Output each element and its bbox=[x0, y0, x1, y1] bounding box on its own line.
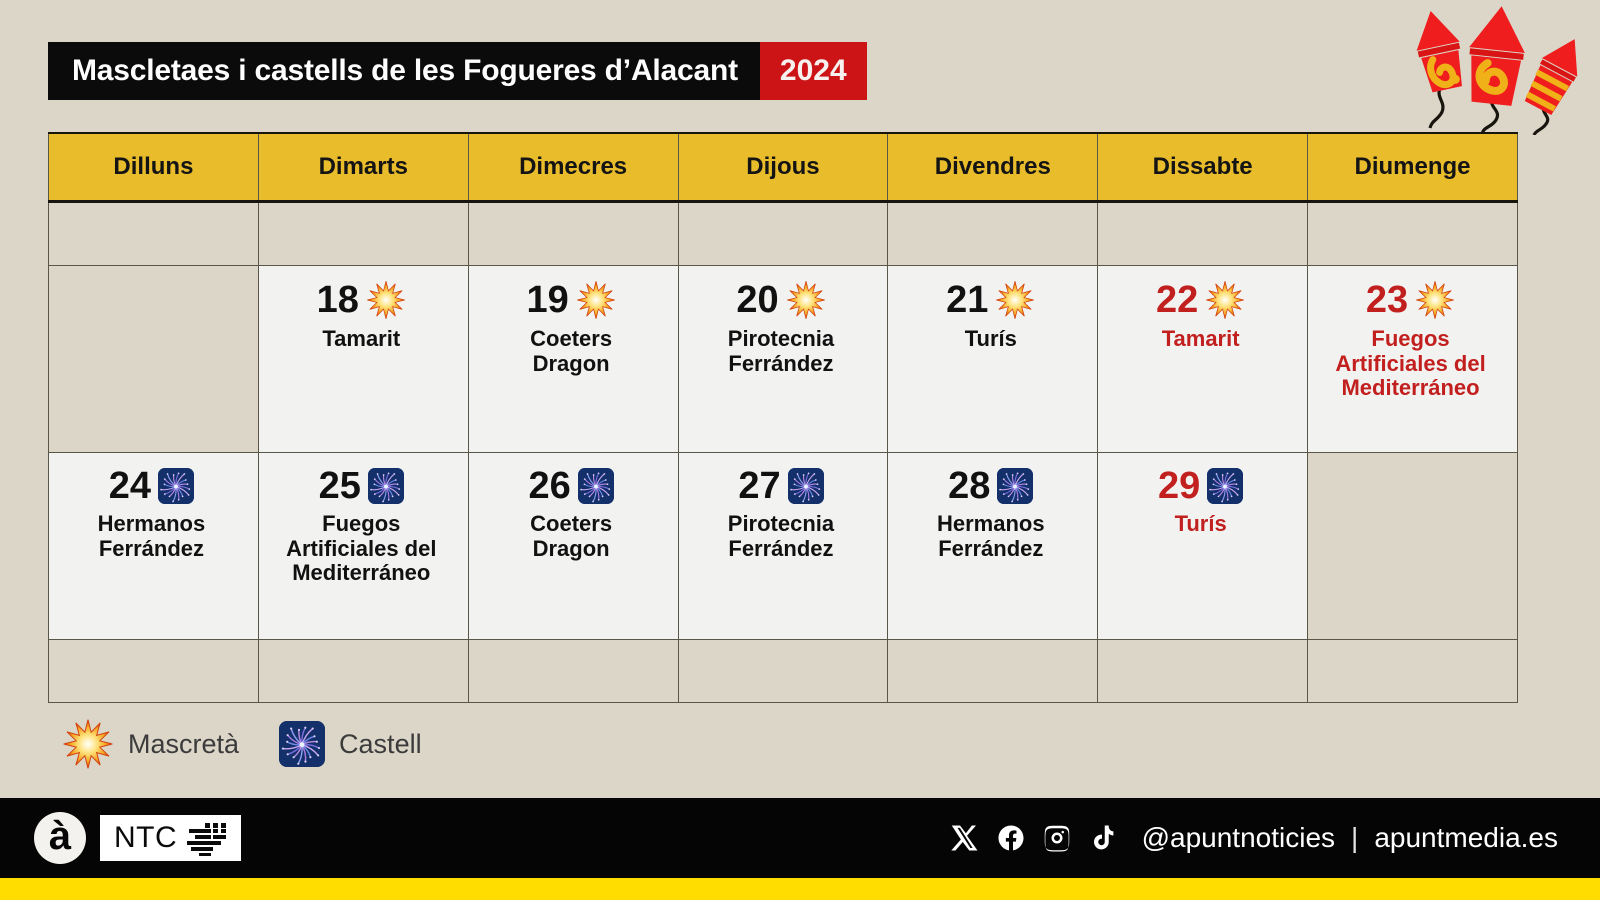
weekday-header-dilluns: Dilluns bbox=[49, 133, 259, 202]
calendar-cell-day-22[interactable]: 22Tamarit bbox=[1098, 266, 1308, 453]
castell-icon bbox=[578, 468, 614, 504]
calendar-cell-empty bbox=[678, 202, 888, 266]
calendar-cell-empty bbox=[1308, 453, 1518, 640]
castell-icon bbox=[788, 468, 824, 504]
calendar-cell-empty bbox=[468, 640, 678, 703]
calendar-cell-day-20[interactable]: 20Pirotecnia Ferrández bbox=[678, 266, 888, 453]
calendar-cell-empty bbox=[49, 202, 259, 266]
calendar-cell-empty bbox=[1308, 640, 1518, 703]
event-name: Tamarit bbox=[269, 327, 454, 352]
title-bar: Mascletaes i castells de les Fogueres d’… bbox=[48, 42, 867, 100]
weekday-header-dissabte: Dissabte bbox=[1098, 133, 1308, 202]
calendar-cell-empty bbox=[1098, 640, 1308, 703]
calendar-cell-day-21[interactable]: 21Turís bbox=[888, 266, 1098, 453]
mascleta-icon bbox=[576, 280, 616, 320]
x-icon[interactable] bbox=[950, 823, 980, 853]
calendar-cell-day-19[interactable]: 19Coeters Dragon bbox=[468, 266, 678, 453]
footer-branding: à NTC bbox=[0, 812, 241, 864]
event-name: Pirotecnia Ferrández bbox=[689, 327, 874, 376]
event-name: Turís bbox=[898, 327, 1083, 352]
calendar-cell-content: 24Hermanos Ferrández bbox=[49, 453, 258, 571]
day-number-row: 27 bbox=[689, 467, 874, 505]
year-label: 2024 bbox=[780, 54, 847, 88]
day-number-row: 20 bbox=[689, 280, 874, 320]
castell-icon bbox=[279, 721, 325, 767]
ntc-label: NTC bbox=[114, 821, 177, 855]
calendar-cell-content: 29Turís bbox=[1098, 453, 1307, 547]
calendar-cell-content: 28Hermanos Ferrández bbox=[888, 453, 1097, 571]
rockets-icon bbox=[1392, 0, 1592, 135]
legend-label: Mascretà bbox=[128, 729, 239, 760]
mascleta-icon bbox=[62, 718, 114, 770]
calendar-cell-content: 25Fuegos Artificiales del Mediterráneo bbox=[259, 453, 468, 596]
event-name: Coeters Dragon bbox=[479, 327, 664, 376]
calendar-cell-day-28[interactable]: 28Hermanos Ferrández bbox=[888, 453, 1098, 640]
calendar-week-row: 18Tamarit19Coeters Dragon20Pirotecnia Fe… bbox=[49, 266, 1518, 453]
calendar-cell-day-24[interactable]: 24Hermanos Ferrández bbox=[49, 453, 259, 640]
calendar-cell-day-23[interactable]: 23Fuegos Artificiales del Mediterráneo bbox=[1308, 266, 1518, 453]
tiktok-icon[interactable] bbox=[1088, 823, 1118, 853]
day-number: 23 bbox=[1366, 281, 1408, 319]
weekday-header-diumenge: Diumenge bbox=[1308, 133, 1518, 202]
ntc-pixel-pattern-icon bbox=[185, 820, 231, 856]
apunt-logo: à bbox=[34, 812, 86, 864]
calendar-cell-empty bbox=[678, 640, 888, 703]
calendar-cell-content: 26Coeters Dragon bbox=[469, 453, 678, 571]
day-number: 18 bbox=[317, 281, 359, 319]
day-number: 21 bbox=[946, 281, 988, 319]
website-label[interactable]: apuntmedia.es bbox=[1374, 822, 1558, 854]
day-number-row: 25 bbox=[269, 467, 454, 505]
event-name: Tamarit bbox=[1108, 327, 1293, 352]
calendar-cell-empty bbox=[468, 202, 678, 266]
calendar-cell-empty bbox=[888, 202, 1098, 266]
mascleta-icon bbox=[786, 280, 826, 320]
calendar-cell-content: 23Fuegos Artificiales del Mediterráneo bbox=[1308, 266, 1517, 411]
day-number-row: 19 bbox=[479, 280, 664, 320]
day-number-row: 24 bbox=[59, 467, 244, 505]
facebook-icon[interactable] bbox=[996, 823, 1026, 853]
weekday-header-dimecres: Dimecres bbox=[468, 133, 678, 202]
year-badge: 2024 bbox=[760, 42, 867, 100]
mascleta-icon bbox=[1415, 280, 1455, 320]
mascleta-icon bbox=[366, 280, 406, 320]
day-number: 27 bbox=[738, 467, 780, 505]
weekday-header-dijous: Dijous bbox=[678, 133, 888, 202]
event-name: Fuegos Artificiales del Mediterráneo bbox=[1318, 327, 1503, 401]
day-number: 22 bbox=[1156, 281, 1198, 319]
event-name: Turís bbox=[1108, 512, 1293, 537]
calendar-week-row bbox=[49, 640, 1518, 703]
weekday-header-divendres: Divendres bbox=[888, 133, 1098, 202]
instagram-icon[interactable] bbox=[1042, 823, 1072, 853]
legend: MascretàCastell bbox=[62, 718, 422, 770]
castell-icon bbox=[997, 468, 1033, 504]
day-number-row: 23 bbox=[1318, 280, 1503, 320]
mascleta-icon bbox=[995, 280, 1035, 320]
bottom-accent-strip bbox=[0, 878, 1600, 900]
day-number-row: 21 bbox=[898, 280, 1083, 320]
calendar-cell-day-25[interactable]: 25Fuegos Artificiales del Mediterráneo bbox=[258, 453, 468, 640]
weekday-header-dimarts: Dimarts bbox=[258, 133, 468, 202]
calendar-cell-content: 27Pirotecnia Ferrández bbox=[679, 453, 888, 571]
day-number: 24 bbox=[109, 467, 151, 505]
event-name: Coeters Dragon bbox=[479, 512, 664, 561]
day-number: 20 bbox=[736, 281, 778, 319]
footer-bar: à NTC bbox=[0, 798, 1600, 878]
calendar-cell-content: 19Coeters Dragon bbox=[469, 266, 678, 386]
day-number: 29 bbox=[1158, 467, 1200, 505]
day-number-row: 26 bbox=[479, 467, 664, 505]
castell-icon bbox=[1207, 468, 1243, 504]
calendar-header-row: DillunsDimartsDimecresDijousDivendresDis… bbox=[49, 133, 1518, 202]
calendar-cell-content: 20Pirotecnia Ferrández bbox=[679, 266, 888, 386]
calendar-table: DillunsDimartsDimecresDijousDivendresDis… bbox=[48, 132, 1518, 703]
social-handle[interactable]: @apuntnoticies bbox=[1142, 822, 1335, 854]
calendar-cell-day-18[interactable]: 18Tamarit bbox=[258, 266, 468, 453]
calendar-cell-day-27[interactable]: 27Pirotecnia Ferrández bbox=[678, 453, 888, 640]
mascleta-icon bbox=[1205, 280, 1245, 320]
castell-icon bbox=[158, 468, 194, 504]
day-number: 28 bbox=[948, 467, 990, 505]
ntc-logo: NTC bbox=[100, 815, 241, 861]
legend-item-castell: Castell bbox=[279, 721, 422, 767]
calendar-cell-content: 18Tamarit bbox=[259, 266, 468, 362]
calendar-week-row bbox=[49, 202, 1518, 266]
castell-icon bbox=[368, 468, 404, 504]
page-title: Mascletaes i castells de les Fogueres d’… bbox=[72, 54, 738, 88]
calendar-cell-empty bbox=[258, 202, 468, 266]
day-number: 25 bbox=[319, 467, 361, 505]
title-black-panel: Mascletaes i castells de les Fogueres d’… bbox=[48, 42, 760, 100]
event-name: Hermanos Ferrández bbox=[898, 512, 1083, 561]
calendar-cell-empty bbox=[49, 640, 259, 703]
calendar-cell-empty bbox=[888, 640, 1098, 703]
event-name: Fuegos Artificiales del Mediterráneo bbox=[269, 512, 454, 586]
day-number-row: 28 bbox=[898, 467, 1083, 505]
day-number-row: 29 bbox=[1108, 467, 1293, 505]
calendar-cell-empty bbox=[1098, 202, 1308, 266]
calendar-cell-content: 21Turís bbox=[888, 266, 1097, 362]
calendar-cell-empty bbox=[49, 266, 259, 453]
calendar-cell-day-29[interactable]: 29Turís bbox=[1098, 453, 1308, 640]
footer-separator: | bbox=[1351, 822, 1358, 854]
day-number: 26 bbox=[528, 467, 570, 505]
event-name: Pirotecnia Ferrández bbox=[689, 512, 874, 561]
calendar-cell-day-26[interactable]: 26Coeters Dragon bbox=[468, 453, 678, 640]
calendar-cell-empty bbox=[1308, 202, 1518, 266]
legend-item-mascretà: Mascretà bbox=[62, 718, 239, 770]
day-number: 19 bbox=[526, 281, 568, 319]
legend-label: Castell bbox=[339, 729, 422, 760]
calendar-week-row: 24Hermanos Ferrández25Fuegos Artificiale… bbox=[49, 453, 1518, 640]
day-number-row: 18 bbox=[269, 280, 454, 320]
calendar-cell-content: 22Tamarit bbox=[1098, 266, 1307, 362]
calendar-body: 18Tamarit19Coeters Dragon20Pirotecnia Fe… bbox=[49, 202, 1518, 703]
rockets-decoration bbox=[1392, 0, 1592, 135]
calendar-cell-empty bbox=[258, 640, 468, 703]
footer-social: @apuntnoticies | apuntmedia.es bbox=[950, 822, 1600, 854]
day-number-row: 22 bbox=[1108, 280, 1293, 320]
event-name: Hermanos Ferrández bbox=[59, 512, 244, 561]
